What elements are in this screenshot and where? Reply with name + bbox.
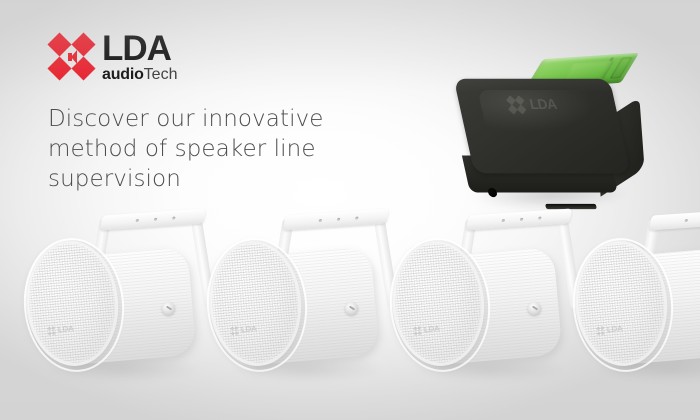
supervision-module-image: LDA (448, 52, 668, 202)
promo-banner: LDA audioTech Discover our innovative me… (0, 0, 700, 420)
brand-name: LDA (102, 32, 177, 65)
lda-diamond-speaker-mark-icon (50, 34, 96, 80)
speaker-pivot-screw (528, 302, 541, 315)
speaker-badge: LDA (48, 323, 75, 337)
bracket-top-bar (283, 208, 389, 230)
list-item: LDA (571, 206, 700, 406)
module-embossed-logo-icon: LDA (506, 94, 584, 121)
speaker-mount-bracket (277, 212, 395, 252)
headline-line-3: supervision (48, 164, 378, 194)
speaker-badge: LDA (597, 323, 624, 337)
speaker-badge-text: LDA (241, 324, 257, 334)
brand-tagline-bold: audio (102, 66, 144, 83)
speaker-pivot-screw (162, 302, 175, 315)
bracket-top-bar (466, 208, 572, 230)
speaker-mount-bracket (94, 212, 212, 252)
speaker-pivot-screw (345, 302, 358, 315)
speaker-badge-text: LDA (424, 324, 440, 334)
lda-wordmark: LDA audioTech (102, 32, 177, 83)
bracket-top-bar (649, 208, 700, 230)
speaker-mount-bracket (460, 212, 578, 252)
headline: Discover our innovative method of speake… (48, 104, 378, 194)
speaker-icon (68, 50, 79, 64)
headline-line-2: method of speaker line (48, 134, 378, 164)
speaker-badge: LDA (231, 323, 258, 337)
speaker-badge: LDA (414, 323, 441, 337)
speaker-badge-text: LDA (607, 324, 623, 334)
bracket-top-bar (100, 208, 206, 230)
module-emboss-text: LDA (528, 96, 558, 112)
brand-tagline-light: Tech (144, 66, 178, 83)
headline-line-1: Discover our innovative (48, 104, 378, 134)
speaker-badge-text: LDA (58, 324, 74, 334)
brand-tagline: audioTech (102, 66, 177, 83)
speaker-mount-bracket (643, 212, 700, 252)
lda-logo[interactable]: LDA audioTech (50, 34, 280, 86)
